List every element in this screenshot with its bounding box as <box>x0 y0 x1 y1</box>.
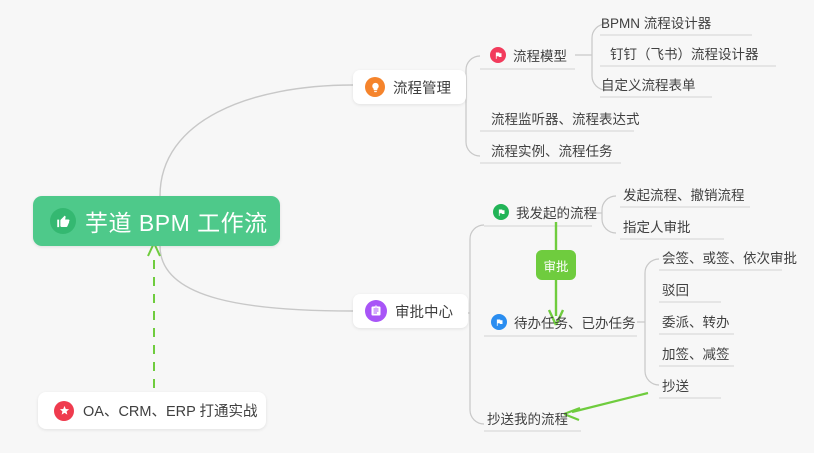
integration-callout-label: OA、CRM、ERP 打通实战 <box>83 400 258 421</box>
node-countersign-or-sequential[interactable]: 会签、或签、依次审批 <box>662 243 797 271</box>
node-add-remove-sign-label: 加签、减签 <box>662 343 730 363</box>
approval-badge-label: 审批 <box>543 256 568 275</box>
node-reject-label: 驳回 <box>662 279 689 299</box>
node-todo-done-tasks[interactable]: 待办任务、已办任务 <box>491 308 636 336</box>
link-root-to-approval-center <box>160 246 353 311</box>
node-add-remove-sign[interactable]: 加签、减签 <box>662 339 730 367</box>
link-process-management-spine <box>466 56 480 156</box>
star-icon <box>54 401 74 421</box>
link-root-to-process-management <box>160 85 353 196</box>
node-custom-process-form-label: 自定义流程表单 <box>601 74 696 94</box>
branch-process-management[interactable]: 流程管理 <box>353 70 466 104</box>
node-process-listener-expression-label: 流程监听器、流程表达式 <box>491 108 640 128</box>
lightbulb-icon <box>365 77 385 97</box>
node-bpmn-designer[interactable]: BPMN 流程设计器 <box>601 8 711 36</box>
node-delegate-transfer-label: 委派、转办 <box>662 311 730 331</box>
node-my-initiated-process-label: 我发起的流程 <box>516 202 597 222</box>
branch-process-management-label: 流程管理 <box>393 77 451 98</box>
link-approval-center-spine <box>470 225 484 424</box>
clipboard-icon <box>365 300 387 322</box>
approval-badge[interactable]: 审批 <box>536 250 576 280</box>
node-process-instance-task[interactable]: 流程实例、流程任务 <box>491 136 613 164</box>
node-process-listener-expression[interactable]: 流程监听器、流程表达式 <box>491 104 640 132</box>
branch-approval-center[interactable]: 审批中心 <box>353 294 468 328</box>
link-my-initiated-spine <box>602 196 616 233</box>
flag-icon <box>490 47 506 63</box>
node-cc-label: 抄送 <box>662 375 689 395</box>
node-my-initiated-process[interactable]: 我发起的流程 <box>493 198 597 226</box>
node-process-model-label: 流程模型 <box>513 45 567 65</box>
link-todo-done-spine <box>645 259 659 385</box>
node-process-instance-task-label: 流程实例、流程任务 <box>491 140 613 160</box>
branch-approval-center-label: 审批中心 <box>395 301 453 322</box>
node-cc[interactable]: 抄送 <box>662 371 689 399</box>
node-start-cancel-process[interactable]: 发起流程、撤销流程 <box>623 180 745 208</box>
node-start-cancel-process-label: 发起流程、撤销流程 <box>623 184 745 204</box>
node-dingtalk-feishu-designer-label: 钉钉（飞书）流程设计器 <box>610 43 759 63</box>
node-cc-to-me-process[interactable]: 抄送我的流程 <box>487 404 568 432</box>
node-assignee-approval[interactable]: 指定人审批 <box>623 212 691 240</box>
node-reject[interactable]: 驳回 <box>662 275 689 303</box>
node-todo-done-tasks-label: 待办任务、已办任务 <box>514 312 636 332</box>
node-cc-to-me-process-label: 抄送我的流程 <box>487 408 568 428</box>
thumbs-up-icon <box>50 208 76 234</box>
node-custom-process-form[interactable]: 自定义流程表单 <box>601 70 696 98</box>
arrow-cc-to-cc-to-me <box>572 393 648 412</box>
integration-callout-card[interactable]: OA、CRM、ERP 打通实战 <box>38 392 266 429</box>
flag-icon <box>493 204 509 220</box>
node-delegate-transfer[interactable]: 委派、转办 <box>662 307 730 335</box>
flag-icon <box>491 314 507 330</box>
node-dingtalk-feishu-designer[interactable]: 钉钉（飞书）流程设计器 <box>610 39 759 67</box>
mindmap-canvas: 芋道 BPM 工作流 流程管理 流程模型 BPMN 流程设计器 钉钉（飞书）流程… <box>0 0 814 453</box>
node-countersign-or-sequential-label: 会签、或签、依次审批 <box>662 247 797 267</box>
root-label: 芋道 BPM 工作流 <box>85 204 268 238</box>
root-node[interactable]: 芋道 BPM 工作流 <box>33 196 280 246</box>
node-assignee-approval-label: 指定人审批 <box>623 216 691 236</box>
node-bpmn-designer-label: BPMN 流程设计器 <box>601 12 711 32</box>
node-process-model[interactable]: 流程模型 <box>490 41 567 69</box>
